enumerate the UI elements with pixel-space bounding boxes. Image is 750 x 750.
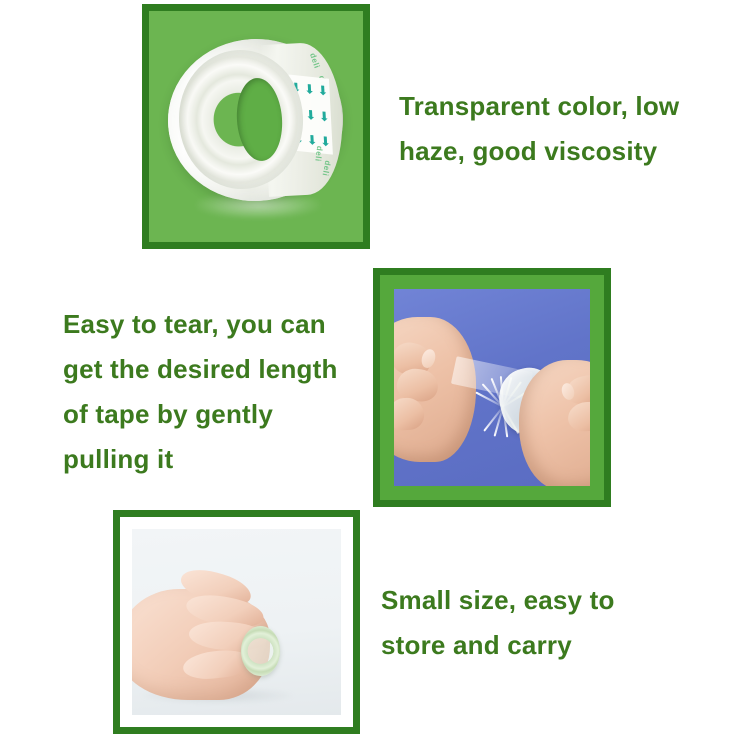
feature-line: Small size, easy to	[381, 578, 615, 623]
panel-hold-photo	[132, 529, 341, 715]
down-arrow-icon: ⬇	[303, 82, 315, 96]
left-hand	[394, 317, 476, 463]
panel-tape-roll-on-green: deli deli ⬇ ⬇ ⬇ ⬇ ⬇ ⬇ ⬇ ⬇ ⬇	[142, 4, 370, 249]
feature-line: pulling it	[63, 437, 338, 482]
feature-text-transparent-color: Transparent color, low haze, good viscos…	[399, 84, 679, 174]
panel-hand-holding-roll	[113, 510, 360, 734]
roll-print-text-4: deli	[320, 160, 332, 177]
feature-line: get the desired length	[63, 347, 338, 392]
panel-roll-photo: deli deli ⬇ ⬇ ⬇ ⬇ ⬇ ⬇ ⬇ ⬇ ⬇	[149, 11, 363, 242]
feature-line: store and carry	[381, 623, 615, 668]
panel-hands-tearing-tape: deli	[373, 268, 611, 507]
panel-tear-photo: deli	[394, 289, 590, 486]
down-arrow-icon: ⬇	[318, 109, 330, 123]
small-tape-roll	[241, 626, 281, 676]
feature-line: Easy to tear, you can	[63, 302, 338, 347]
roll-print-text-3: deli	[313, 145, 324, 162]
roll-print-text-1: deli	[307, 52, 321, 70]
feature-text-easy-to-tear: Easy to tear, you can get the desired le…	[63, 302, 338, 482]
feature-line: of tape by gently	[63, 392, 338, 437]
feature-text-small-size: Small size, easy to store and carry	[381, 578, 615, 668]
tape-roll-scene: deli deli ⬇ ⬇ ⬇ ⬇ ⬇ ⬇ ⬇ ⬇ ⬇	[149, 11, 363, 242]
feature-line: Transparent color, low	[399, 84, 679, 129]
right-hand-finger	[567, 400, 590, 431]
feature-line: haze, good viscosity	[399, 129, 679, 174]
down-arrow-icon: ⬇	[305, 108, 317, 122]
down-arrow-icon: ⬇	[317, 84, 329, 98]
left-hand-finger	[394, 397, 425, 432]
product-feature-infographic: deli deli ⬇ ⬇ ⬇ ⬇ ⬇ ⬇ ⬇ ⬇ ⬇	[0, 0, 750, 750]
